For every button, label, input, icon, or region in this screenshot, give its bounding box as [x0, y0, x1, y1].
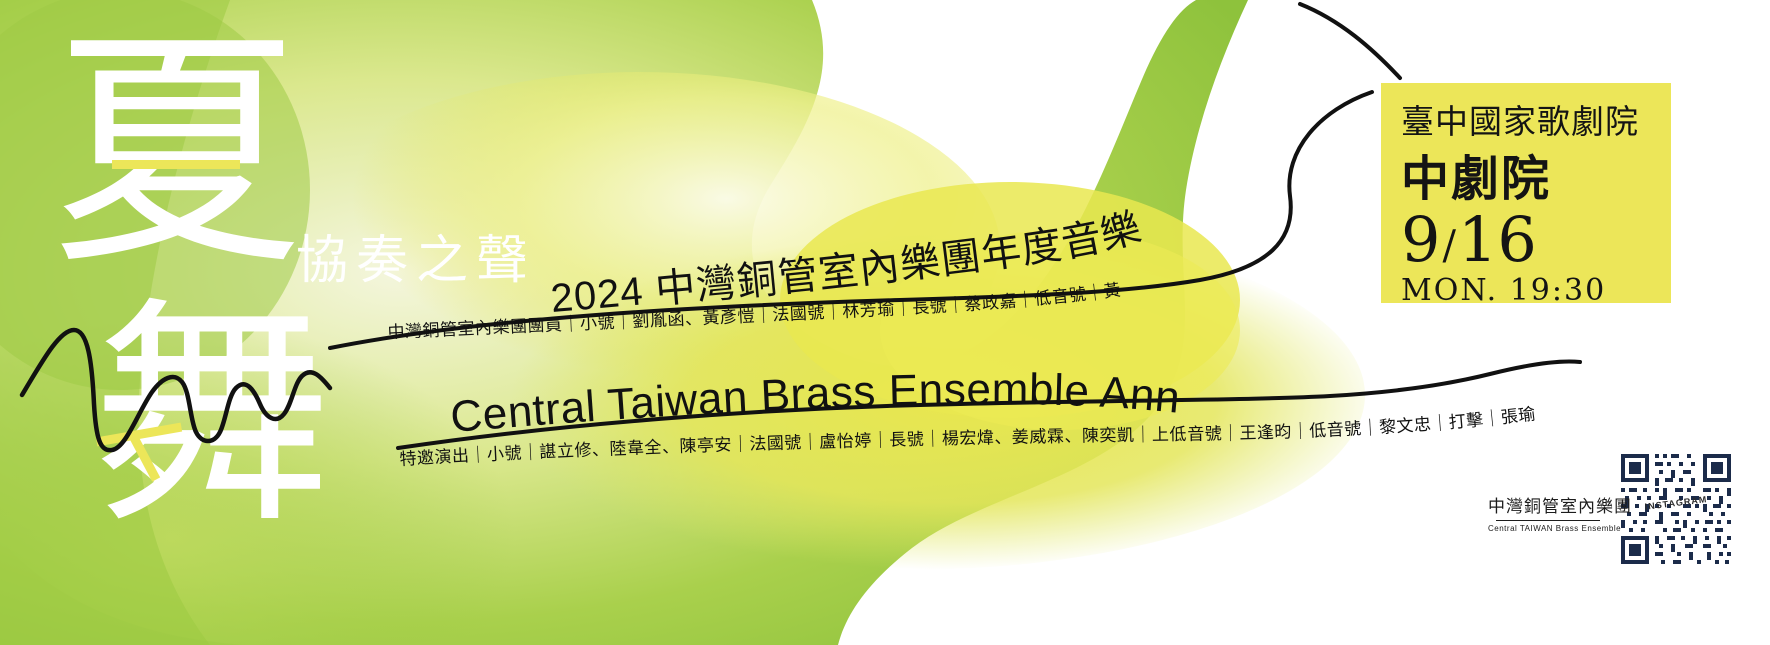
event-time: MON. 19:30	[1401, 273, 1606, 308]
hero-character-summer: 夏	[52, 28, 302, 278]
venue-name: 臺中國家歌劇院	[1401, 95, 1639, 143]
qr-code-icon[interactable]: INSTAGRAM	[1617, 450, 1735, 568]
ensemble-logo: 中灣銅管室內樂團 Central TAIWAN Brass Ensemble	[1488, 492, 1608, 552]
event-date: 9/16	[1401, 209, 1537, 271]
event-info-box: 臺中國家歌劇院 中劇院 9/16 MON. 19:30	[1381, 83, 1671, 303]
event-day: 16	[1458, 203, 1537, 276]
hero-subtitle: 協奏之聲	[296, 218, 536, 293]
concert-poster: 夏 舞 協奏之聲	[0, 0, 1770, 645]
logo-divider	[1496, 520, 1600, 521]
logo-english-name: Central TAIWAN Brass Ensemble	[1488, 524, 1608, 533]
date-slash: /	[1442, 223, 1455, 269]
event-month: 9	[1401, 203, 1440, 276]
hall-name: 中劇院	[1401, 139, 1551, 209]
hero-character-dance: 舞	[92, 296, 332, 536]
logo-chinese-name: 中灣銅管室內樂團	[1488, 492, 1608, 517]
accent-stroke-1	[112, 160, 240, 169]
